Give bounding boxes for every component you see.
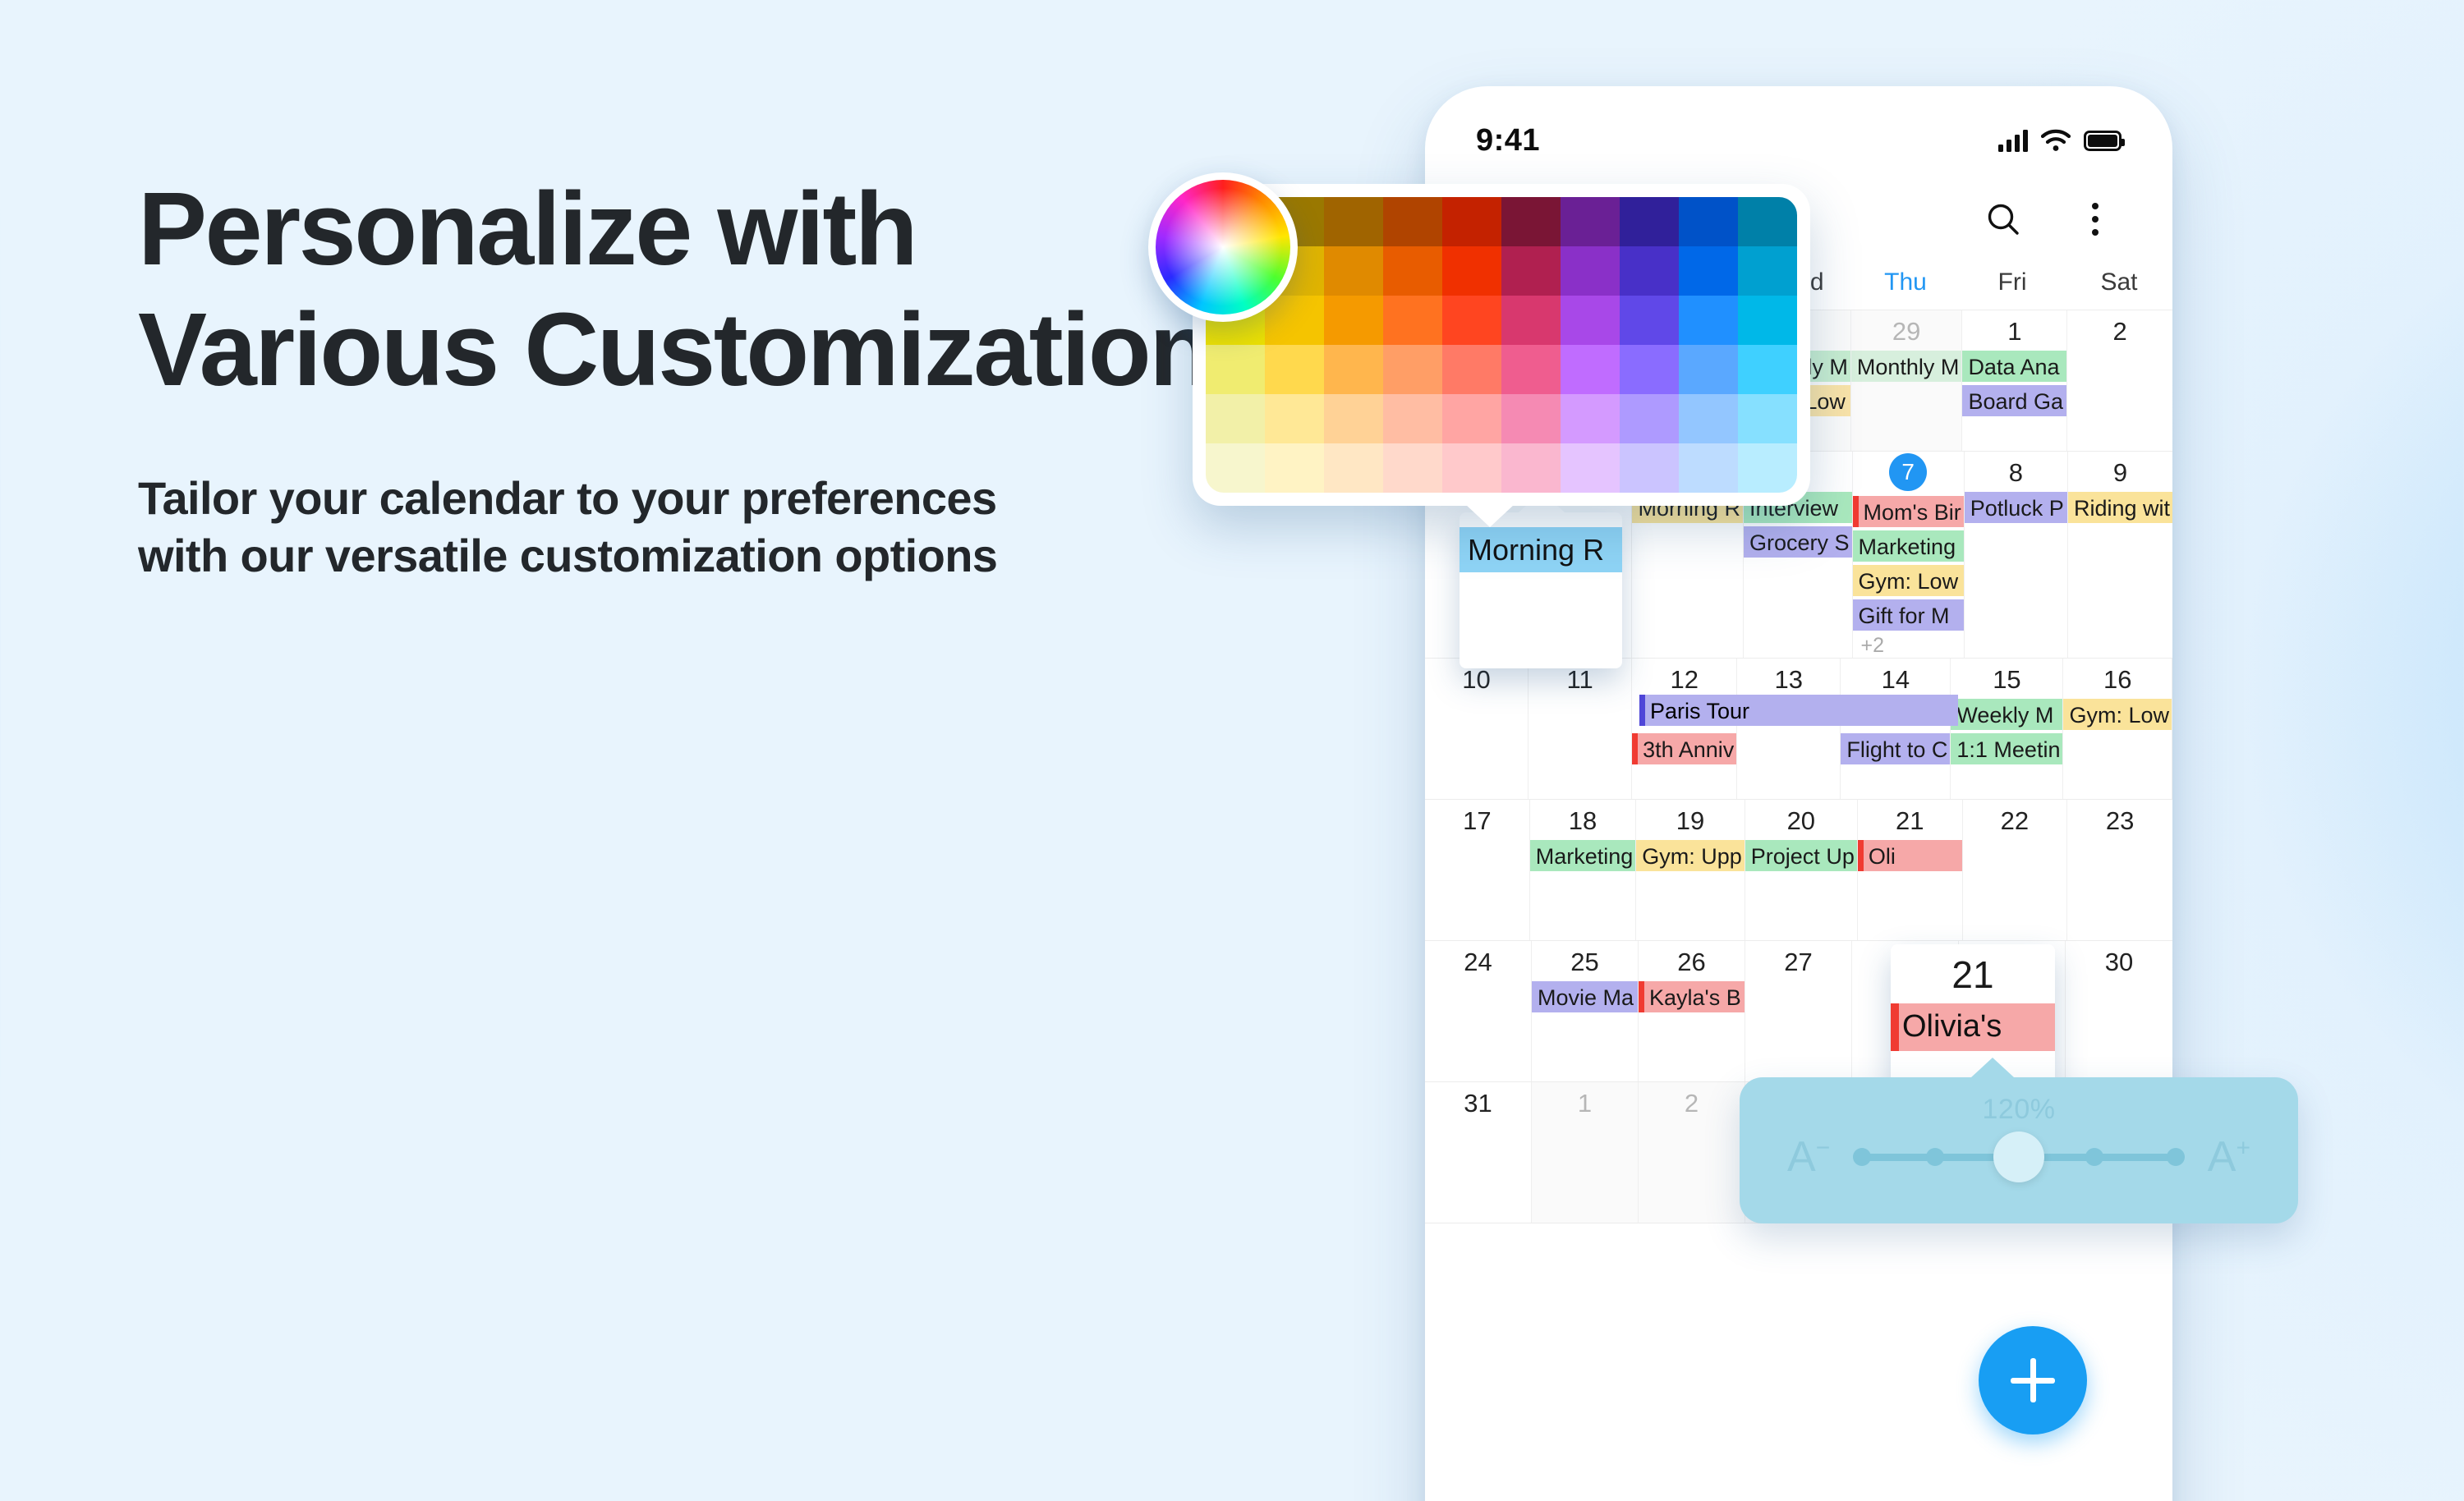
color-swatch[interactable] <box>1442 443 1501 493</box>
calendar-week-row: 1718Marketing19Gym: Upp20Project Up21Oli… <box>1425 800 2172 941</box>
day-number: 2 <box>1639 1090 1745 1116</box>
day-number: 21 <box>1858 808 1962 833</box>
slider-tick <box>2167 1148 2185 1166</box>
calendar-event[interactable]: Board Ga <box>1962 385 2066 416</box>
color-swatch[interactable] <box>1738 345 1797 394</box>
day-number: 12 <box>1632 667 1736 692</box>
calendar-event[interactable]: Flight to C <box>1841 733 1950 764</box>
day-number: 27 <box>1745 949 1851 975</box>
color-swatch[interactable] <box>1620 443 1679 493</box>
slider-tick <box>2085 1148 2103 1166</box>
search-icon[interactable] <box>1980 196 2026 242</box>
calendar-event[interactable]: Marketing <box>1530 840 1636 871</box>
color-swatch[interactable] <box>1738 443 1797 493</box>
color-swatch[interactable] <box>1383 345 1442 394</box>
color-swatch[interactable] <box>1324 345 1383 394</box>
today-badge: 7 <box>1889 453 1927 491</box>
color-swatch[interactable] <box>1383 443 1442 493</box>
color-swatch[interactable] <box>1620 394 1679 443</box>
slider-tick <box>1853 1148 1871 1166</box>
color-swatch[interactable] <box>1265 345 1324 394</box>
day-number: 10 <box>1425 667 1528 692</box>
color-swatch[interactable] <box>1206 394 1265 443</box>
color-swatch[interactable] <box>1383 296 1442 345</box>
more-events-label[interactable]: +2 <box>1853 634 1964 658</box>
decrease-font-button[interactable]: A− <box>1787 1132 1830 1182</box>
color-swatch[interactable] <box>1501 345 1561 394</box>
day-header-thu: Thu <box>1852 269 1959 296</box>
color-swatch[interactable] <box>1679 345 1738 394</box>
calendar-day-cell[interactable]: 10 <box>1425 659 1529 799</box>
color-swatch[interactable] <box>1501 246 1561 296</box>
calendar-day-cell[interactable]: 15Weekly M1:1 Meetin <box>1951 659 2063 799</box>
calendar-day-cell[interactable]: 24 <box>1425 941 1532 1081</box>
day-header-fri: Fri <box>1959 269 2066 296</box>
day-number: 1 <box>1532 1090 1638 1116</box>
day-number: 11 <box>1529 667 1631 692</box>
signal-bars-icon <box>1998 129 2028 152</box>
calendar-day-cell[interactable]: 2 <box>2067 310 2172 451</box>
color-swatch[interactable] <box>1679 197 1738 246</box>
calendar-day-cell[interactable]: 1 <box>1532 1082 1639 1223</box>
status-bar: 9:41 <box>1425 86 2172 175</box>
color-swatch[interactable] <box>1679 443 1738 493</box>
calendar-day-cell[interactable]: 2 <box>1639 1082 1745 1223</box>
day-number: 29 <box>1851 319 1962 344</box>
page-subtitle: Tailor your calendar to your preferences… <box>138 470 1050 585</box>
color-swatch[interactable] <box>1324 443 1383 493</box>
color-swatch[interactable] <box>1442 296 1501 345</box>
battery-icon <box>2084 131 2122 151</box>
color-swatch[interactable] <box>1206 443 1265 493</box>
calendar-event[interactable]: Gift for M <box>1853 599 1964 631</box>
day-number: 31 <box>1425 1090 1531 1116</box>
color-swatch[interactable] <box>1442 197 1501 246</box>
event-color-bar <box>1639 981 1644 1012</box>
calendar-event[interactable]: Mom's Bir <box>1853 496 1964 527</box>
color-swatch[interactable] <box>1738 197 1797 246</box>
color-swatch[interactable] <box>1738 296 1797 345</box>
color-swatch[interactable] <box>1679 394 1738 443</box>
multi-day-event[interactable]: Paris Tour <box>1639 695 1958 726</box>
calendar-day-cell[interactable]: 8Potluck P <box>1965 452 2068 658</box>
calendar-event[interactable]: Potluck P <box>1965 492 2067 523</box>
color-swatch[interactable] <box>1738 246 1797 296</box>
calendar-event[interactable]: 3th Anniv <box>1632 733 1736 764</box>
calendar-day-cell[interactable]: 22 <box>1963 800 2068 940</box>
color-swatch[interactable] <box>1324 246 1383 296</box>
day-number: 19 <box>1636 808 1745 833</box>
calendar-day-cell[interactable]: 11 <box>1529 659 1632 799</box>
color-swatch[interactable] <box>1679 246 1738 296</box>
wifi-icon <box>2041 129 2071 152</box>
calendar-event[interactable]: Monthly M <box>1851 351 1962 382</box>
font-size-value: 120% <box>1740 1077 2298 1126</box>
popover-event-title: Morning R <box>1460 527 1622 572</box>
day-number: 20 <box>1745 808 1857 833</box>
day-number: 13 <box>1737 667 1840 692</box>
calendar-event[interactable]: Kayla's B <box>1639 981 1745 1012</box>
color-swatch[interactable] <box>1561 296 1620 345</box>
day-number: 2 <box>2067 319 2172 344</box>
color-swatch[interactable] <box>1206 345 1265 394</box>
color-swatch[interactable] <box>1501 197 1561 246</box>
color-swatch[interactable] <box>1561 246 1620 296</box>
page-title: Personalize with Various Customization <box>138 168 1288 411</box>
day-number: 8 <box>1965 460 2067 485</box>
slider-tick <box>1926 1148 1944 1166</box>
add-event-fab[interactable] <box>1979 1326 2087 1434</box>
calendar-day-cell[interactable]: 17 <box>1425 800 1530 940</box>
status-time: 9:41 <box>1476 123 1540 158</box>
color-swatch[interactable] <box>1561 345 1620 394</box>
day-number: 16 <box>2063 667 2172 692</box>
color-swatch[interactable] <box>1561 197 1620 246</box>
popover-day-number: 21 <box>1891 956 2055 994</box>
calendar-event[interactable]: Marketing <box>1853 530 1964 562</box>
font-size-slider[interactable] <box>1853 1138 2185 1176</box>
calendar-event[interactable]: Grocery S <box>1744 526 1852 558</box>
calendar-event[interactable]: Riding wit <box>2068 492 2172 523</box>
day-number: 1 <box>1962 319 2066 344</box>
day-number: 18 <box>1530 808 1636 833</box>
calendar-day-cell[interactable]: 26Kayla's B <box>1639 941 1745 1081</box>
calendar-day-cell[interactable]: 14Flight to C <box>1841 659 1951 799</box>
calendar-week-row: 2425Movie Ma26Kayla's B27282930 <box>1425 941 2172 1082</box>
calendar-event[interactable]: Project Up <box>1745 840 1857 871</box>
color-swatch[interactable] <box>1501 296 1561 345</box>
color-swatch[interactable] <box>1324 296 1383 345</box>
color-swatch[interactable] <box>1324 394 1383 443</box>
increase-font-button[interactable]: A+ <box>2208 1132 2250 1182</box>
day-header-sat: Sat <box>2066 269 2172 296</box>
calendar-day-cell[interactable]: 29Monthly M <box>1851 310 1963 451</box>
calendar-event[interactable]: Gym: Low <box>1853 565 1964 596</box>
color-swatch[interactable] <box>1620 197 1679 246</box>
color-swatch[interactable] <box>1679 296 1738 345</box>
calendar-day-cell[interactable]: 27 <box>1745 941 1852 1081</box>
calendar-day-cell[interactable]: 23 <box>2067 800 2172 940</box>
kebab-menu-icon[interactable] <box>2072 196 2118 242</box>
calendar-day-cell[interactable]: 20Project Up <box>1745 800 1858 940</box>
calendar-day-cell[interactable]: 21Oli <box>1858 800 1963 940</box>
marketing-copy: Personalize with Various Customization T… <box>138 168 1288 585</box>
day-number: 15 <box>1951 667 2062 692</box>
color-swatch[interactable] <box>1265 443 1324 493</box>
calendar-event[interactable]: Movie Ma <box>1532 981 1638 1012</box>
color-wheel-icon[interactable] <box>1148 172 1298 322</box>
calendar-event[interactable]: Gym: Upp <box>1636 840 1745 871</box>
day-number: 14 <box>1841 667 1950 692</box>
calendar-day-cell[interactable]: 30 <box>2066 941 2172 1081</box>
day-number: 24 <box>1425 949 1531 975</box>
calendar-day-cell[interactable]: 25Movie Ma <box>1532 941 1639 1081</box>
slider-knob[interactable] <box>1993 1131 2044 1182</box>
event-color-bar <box>1858 840 1864 871</box>
color-swatch[interactable] <box>1501 394 1561 443</box>
morning-event-popover[interactable]: Morning R <box>1460 512 1622 668</box>
color-swatch[interactable] <box>1383 246 1442 296</box>
color-swatch[interactable] <box>1265 296 1324 345</box>
color-swatch[interactable] <box>1561 443 1620 493</box>
calendar-week-row: 1011123th Anniv1314Flight to C15Weekly M… <box>1425 659 2172 800</box>
day-number: 25 <box>1532 949 1638 975</box>
color-swatch[interactable] <box>1501 443 1561 493</box>
color-swatch[interactable] <box>1442 246 1501 296</box>
calendar-day-cell[interactable]: 31 <box>1425 1082 1532 1223</box>
font-size-popover[interactable]: 120% A− A+ <box>1740 1077 2298 1223</box>
event-color-bar <box>1632 733 1638 764</box>
calendar-day-cell[interactable]: 1Data AnaBoard Ga <box>1962 310 2067 451</box>
day-number: 17 <box>1425 808 1529 833</box>
day-number: 9 <box>2068 460 2172 485</box>
color-swatch[interactable] <box>1324 197 1383 246</box>
color-swatch[interactable] <box>1620 246 1679 296</box>
calendar-day-cell[interactable]: 18Marketing <box>1530 800 1637 940</box>
day-number: 23 <box>2067 808 2172 833</box>
day-number: 30 <box>2066 949 2172 975</box>
calendar-event[interactable]: Gym: Low <box>2063 699 2172 730</box>
calendar-event[interactable]: Oli <box>1858 840 1962 871</box>
status-icons <box>1998 129 2122 152</box>
color-swatch[interactable] <box>1738 394 1797 443</box>
color-swatch[interactable] <box>1620 345 1679 394</box>
calendar-day-cell[interactable]: 7Mom's BirMarketingGym: LowGift for M+2 <box>1853 452 1965 658</box>
calendar-day-cell[interactable]: 13 <box>1737 659 1841 799</box>
calendar-event[interactable]: Weekly M <box>1951 699 2062 730</box>
color-swatch[interactable] <box>1561 394 1620 443</box>
calendar-day-cell[interactable]: 9Riding wit <box>2068 452 2172 658</box>
color-swatch[interactable] <box>1383 197 1442 246</box>
event-color-bar <box>1639 695 1645 726</box>
calendar-event[interactable]: 1:1 Meetin <box>1951 733 2062 764</box>
popover-event-title: Olivia's <box>1891 1003 2055 1051</box>
color-swatch[interactable] <box>1442 345 1501 394</box>
calendar-day-cell[interactable]: 123th Anniv <box>1632 659 1737 799</box>
day-number: 22 <box>1963 808 2067 833</box>
color-swatch[interactable] <box>1620 296 1679 345</box>
calendar-day-cell[interactable]: 19Gym: Upp <box>1636 800 1745 940</box>
event-color-bar <box>1853 496 1859 527</box>
day-number: 26 <box>1639 949 1745 975</box>
color-swatch[interactable] <box>1442 394 1501 443</box>
color-swatch[interactable] <box>1383 394 1442 443</box>
calendar-event[interactable]: Data Ana <box>1962 351 2066 382</box>
color-swatch[interactable] <box>1265 394 1324 443</box>
calendar-day-cell[interactable]: 16Gym: Low <box>2063 659 2172 799</box>
